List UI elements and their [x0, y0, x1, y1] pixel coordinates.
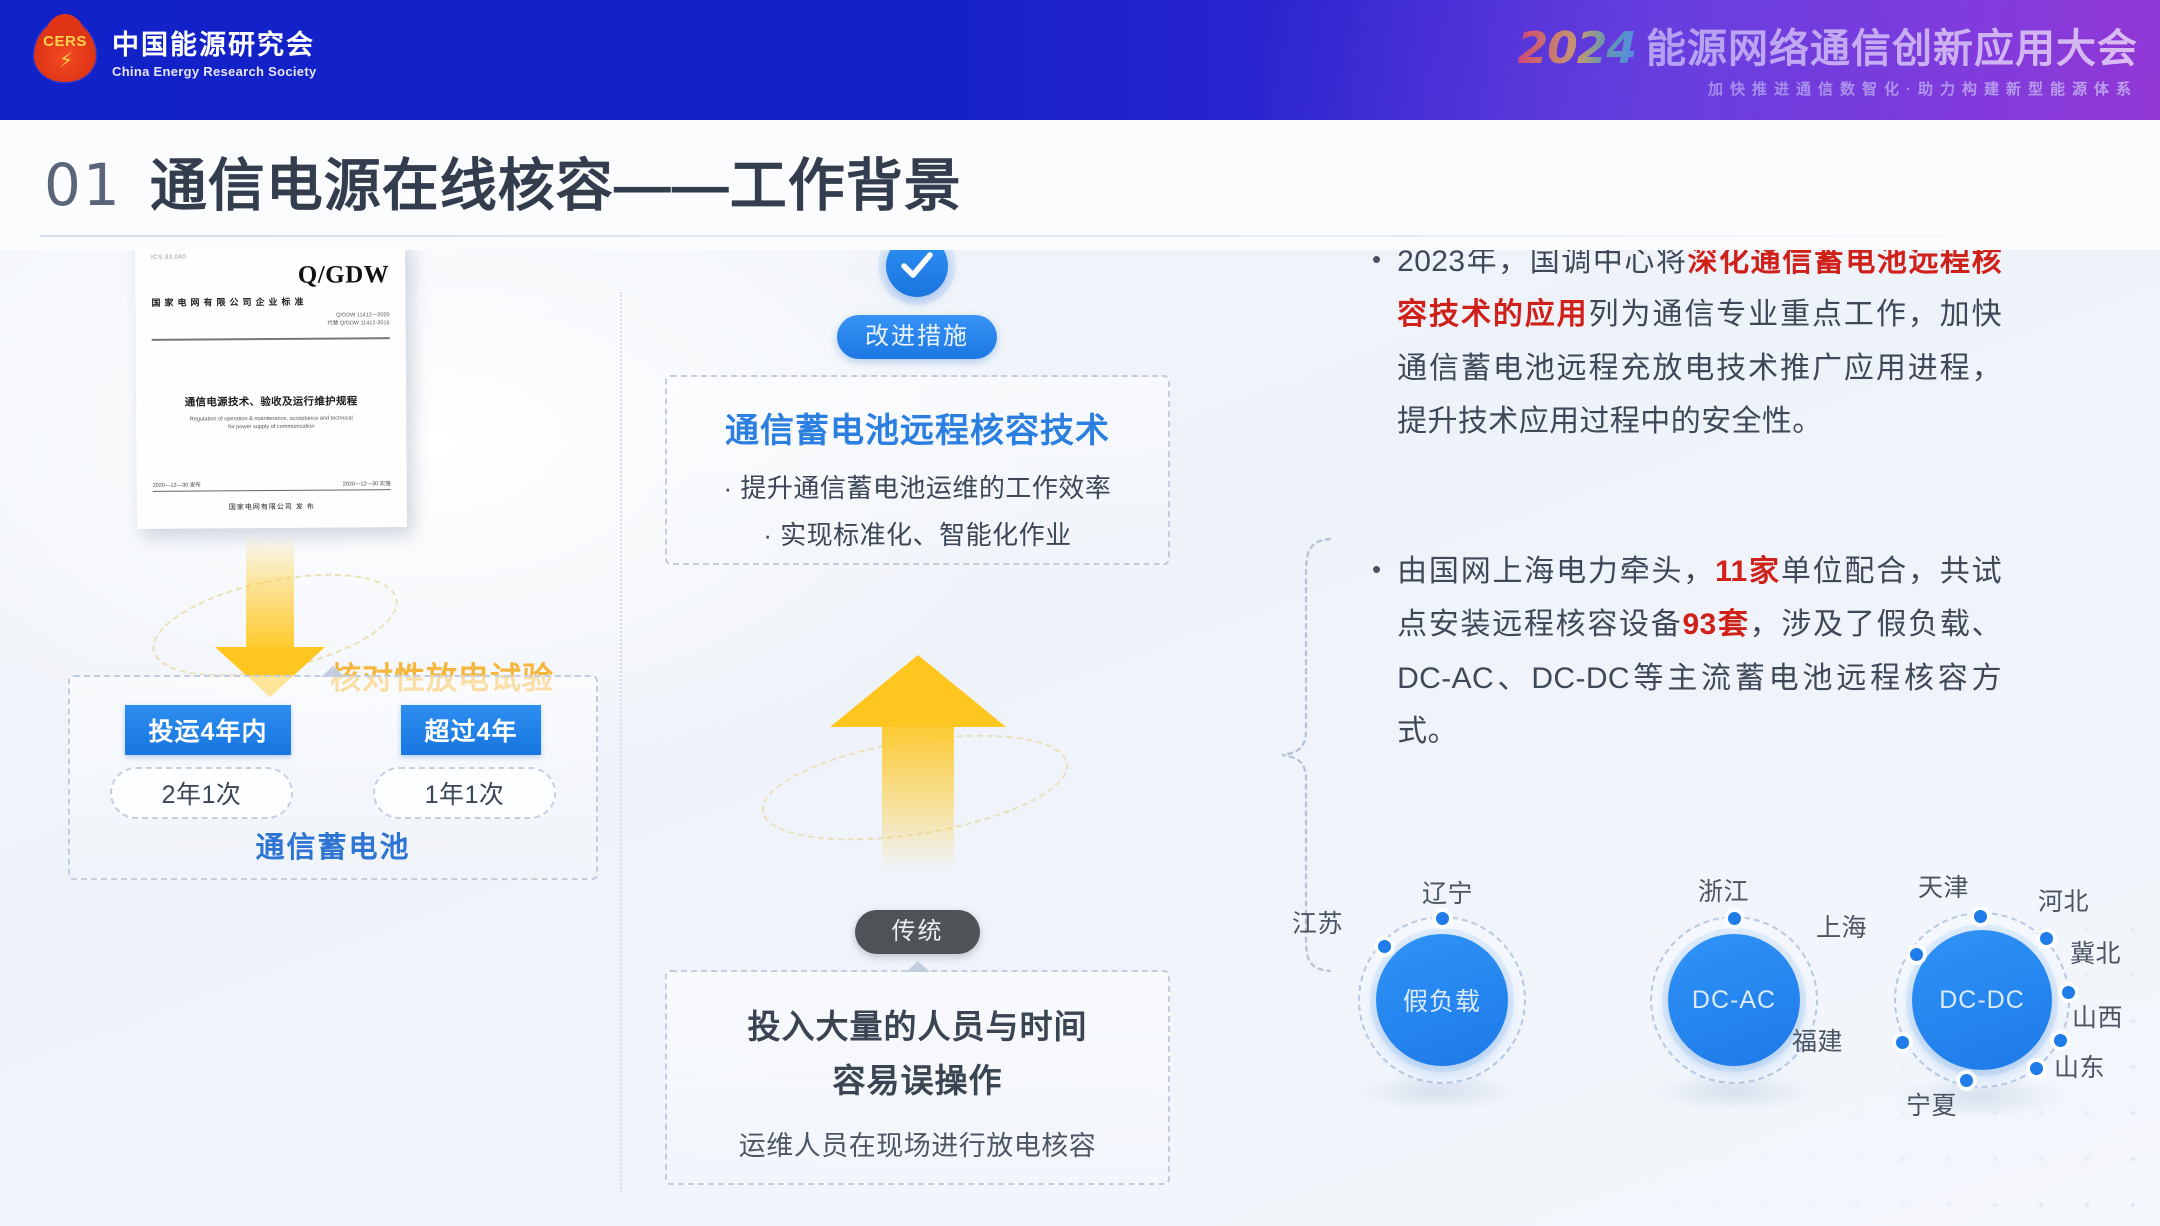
circle-label-dc-ac: DC-AC — [1668, 934, 1800, 1066]
paragraph-1-text: 2023年，国调中心将深化通信蓄电池远程核容技术的应用列为通信专业重点工作，加快… — [1397, 250, 2002, 449]
doc-title-cn: 通信电源技术、验收及运行维护规程 — [152, 393, 390, 410]
traditional-line-2: 容易误操作 — [667, 1054, 1168, 1102]
org-name-block: 中国能源研究会 China Energy Research Society — [112, 23, 317, 79]
node-dot — [2030, 1062, 2043, 1075]
conference-year: 2024 — [1518, 23, 1636, 74]
chip-within-4-years: 投运4年内 — [125, 705, 292, 755]
doc-effective-date: 2020—12—30 实施 — [343, 479, 391, 487]
circle-group-dummy-load: 假负载 辽宁 江苏 — [1330, 886, 1560, 1116]
paragraph-2-text: 由国网上海电力牵头，11家单位配合，共试点安装远程核容设备93套，涉及了假负载、… — [1397, 545, 2002, 759]
node-label-liaoning: 辽宁 — [1422, 874, 1473, 910]
tag-improvement: 改进措施 — [837, 315, 997, 359]
conference-subtitle: 加快推进通信数智化·助力构建新型能源体系 — [1518, 78, 2138, 99]
node-label-jibei: 冀北 — [2070, 934, 2121, 970]
pill-frequency-2y: 2年1次 — [110, 767, 294, 819]
page-header: CERS ⚡ 中国能源研究会 China Energy Research Soc… — [0, 0, 2160, 120]
node-label-tianjin: 天津 — [1918, 868, 1969, 904]
column-divider — [620, 292, 622, 1192]
bullet-marker: • — [1372, 250, 1381, 449]
up-arrow-icon — [830, 655, 1006, 870]
pill-frequency-1y: 1年1次 — [373, 767, 557, 819]
doc-qgdw-mark: Q/GDW — [151, 261, 389, 291]
check-circle-icon — [886, 250, 948, 297]
doc-issuing-org: 国家电网有限公司企业标准 — [151, 294, 389, 309]
circle-group-dc-ac: DC-AC 浙江 — [1636, 886, 1846, 1116]
doc-rule — [152, 337, 390, 341]
node-dot — [1960, 1074, 1973, 1087]
chip-over-4-years: 超过4年 — [401, 705, 542, 755]
node-label-shanghai: 上海 — [1816, 908, 1867, 944]
node-dot — [1378, 940, 1391, 953]
node-dot — [1974, 910, 1987, 923]
traditional-note: 运维人员在现场进行放电核容 — [667, 1124, 1168, 1163]
improvement-card: 通信蓄电池远程核容技术 · 提升通信蓄电池运维的工作效率 · 实现标准化、智能化… — [665, 375, 1170, 565]
node-dot — [2054, 1034, 2067, 1047]
bullet-marker: • — [1372, 545, 1381, 759]
card-notch — [321, 666, 345, 677]
doc-publish-date: 2020—12—30 发布 — [153, 480, 201, 488]
traditional-card: 投入大量的人员与时间 容易误操作 运维人员在现场进行放电核容 — [665, 970, 1170, 1185]
node-label-ningxia: 宁夏 — [1906, 1086, 1957, 1122]
circle-label-dc-dc: DC-DC — [1912, 930, 2052, 1070]
section-number: 01 — [44, 151, 122, 219]
circle-label-dummy-load: 假负载 — [1376, 934, 1508, 1066]
battery-card-footer: 通信蓄电池 — [70, 824, 596, 866]
conference-name: 能源网络通信创新应用大会 — [1646, 16, 2138, 74]
org-name-cn: 中国能源研究会 — [112, 23, 317, 62]
battery-cycle-card: 投运4年内 超过4年 2年1次 1年1次 通信蓄电池 — [68, 675, 598, 880]
org-name-en: China Energy Research Society — [112, 64, 317, 79]
doc-issuer: 国家电网有限公司 发 布 — [137, 501, 407, 513]
doc-title-en-line2: for power supply of communication — [152, 422, 390, 432]
node-label-shandong: 山东 — [2054, 1048, 2105, 1084]
standard-document-cover: ICS 33.040 Q/GDW 国家电网有限公司企业标准 Q/GDW 1141… — [136, 250, 406, 528]
traditional-line-1: 投入大量的人员与时间 — [667, 1000, 1168, 1048]
org-branding: CERS ⚡ 中国能源研究会 China Energy Research Soc… — [34, 20, 317, 82]
slide-body: ICS 33.040 Q/GDW 国家电网有限公司企业标准 Q/GDW 1141… — [0, 250, 2160, 1226]
highlight-device-count: 93套 — [1682, 608, 1749, 641]
node-dot — [1896, 1036, 1909, 1049]
node-dot — [1910, 948, 1923, 961]
improvement-bullet-2: · 实现标准化、智能化作业 — [667, 515, 1168, 552]
highlight-unit-count: 11家 — [1715, 555, 1781, 588]
slide-title-zone: 01 通信电源在线核容——工作背景 — [0, 120, 2160, 250]
card-notch — [906, 961, 930, 972]
node-dot — [2040, 932, 2053, 945]
cers-logo-icon: CERS ⚡ — [34, 20, 96, 82]
node-dot — [1436, 912, 1449, 925]
right-paragraph-1: • 2023年，国调中心将深化通信蓄电池远程核容技术的应用列为通信专业重点工作，… — [1372, 250, 2002, 449]
conference-branding: 2024 能源网络通信创新应用大会 加快推进通信数智化·助力构建新型能源体系 — [1518, 16, 2138, 99]
node-label-zhejiang: 浙江 — [1698, 872, 1749, 908]
down-arrow-icon — [215, 535, 325, 695]
node-dot — [1728, 912, 1741, 925]
improvement-card-title: 通信蓄电池远程核容技术 — [667, 403, 1168, 452]
node-label-fujian: 福建 — [1792, 1022, 1843, 1058]
right-paragraph-2: • 由国网上海电力牵头，11家单位配合，共试点安装远程核容设备93套，涉及了假负… — [1372, 545, 2002, 759]
node-label-shanxi: 山西 — [2072, 998, 2123, 1034]
cers-logo-text: CERS — [34, 33, 96, 50]
doc-ics-code: ICS 33.040 — [151, 253, 389, 261]
circle-group-dc-dc: DC-DC 上海 天津 河北 冀北 山西 山东 宁夏 福建 — [1862, 876, 2122, 1126]
page-title: 通信电源在线核容——工作背景 — [150, 140, 962, 222]
node-label-jiangsu: 江苏 — [1292, 904, 1343, 940]
tag-traditional: 传统 — [855, 910, 980, 954]
node-label-hebei: 河北 — [2038, 882, 2089, 918]
improvement-bullet-1: · 提升通信蓄电池运维的工作效率 — [667, 468, 1168, 505]
title-divider — [40, 235, 2120, 237]
doc-standard-replaces: 代替 Q/GDW 11412-2015 — [152, 319, 390, 329]
